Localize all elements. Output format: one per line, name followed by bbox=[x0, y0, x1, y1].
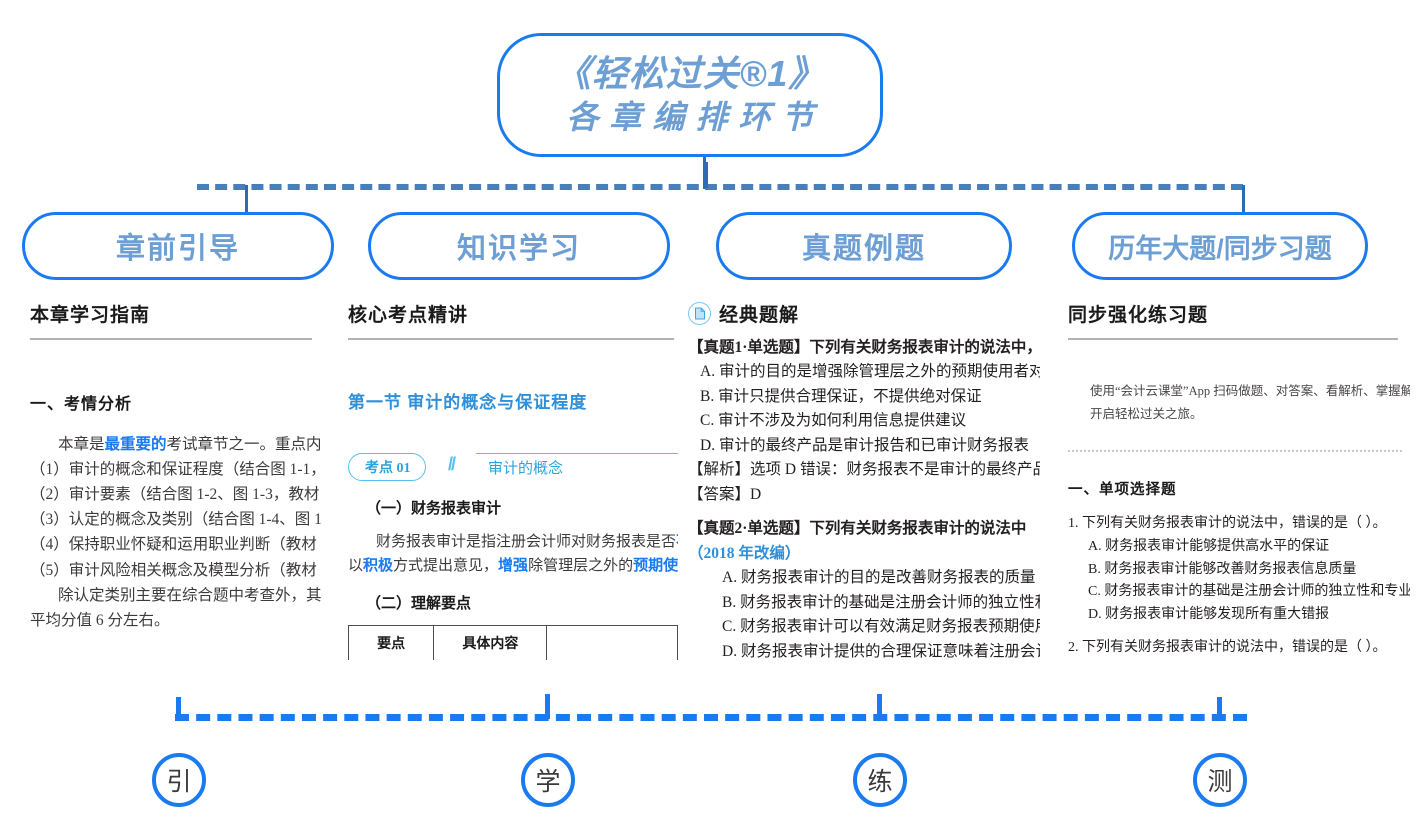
c1-line-6: （5）审计风险相关概念及模型分析（教材 1. bbox=[30, 558, 322, 583]
drop-connector-1 bbox=[245, 185, 248, 213]
c1-line-5: （4）保持职业怀疑和运用职业判断（教材 1. bbox=[30, 532, 322, 557]
panel-divider bbox=[1068, 338, 1398, 340]
c1-line-3: （2）审计要素（结合图 1-2、图 1-3，教材 bbox=[30, 482, 322, 507]
footer-circle-ce[interactable]: 测 bbox=[1193, 753, 1247, 807]
c4-q1-option-b: B. 财务报表审计能够改善财务报表信息质量 bbox=[1068, 559, 1410, 582]
c2-key-points-table: 要点 具体内容 bbox=[348, 625, 678, 660]
c2-subheading-2: （二）理解要点 bbox=[348, 592, 678, 613]
c1-line-2: （1）审计的概念和保证程度（结合图 1-1， bbox=[30, 457, 322, 482]
c4-dotted-divider bbox=[1068, 450, 1402, 452]
document-icon bbox=[688, 302, 711, 325]
c3-line-13: D. 财务报表审计提供的合理保证意味着注册会计师可 bbox=[688, 640, 1040, 660]
c1-line-1: 本章是最重要的考试章节之一。重点内容包 bbox=[30, 432, 322, 457]
footer-circle-lian[interactable]: 练 bbox=[853, 753, 907, 807]
bottom-riser-3 bbox=[877, 694, 882, 719]
c4-section-heading: 一、单项选择题 bbox=[1068, 478, 1410, 499]
c2-kaodian-badge: 考点 01 bbox=[348, 453, 426, 481]
footer-circle-label: 引 bbox=[166, 762, 191, 798]
c1-line-4: （3）认定的概念及类别（结合图 1-4、图 1- bbox=[30, 507, 322, 532]
c2-subheading-1: （一）财务报表审计 bbox=[348, 497, 678, 518]
c2-hl-3: 增强 bbox=[498, 558, 528, 574]
c4-note-line-1: 使用“会计云课堂”App 扫码做题、对答案、看解析、掌握解题思路 bbox=[1090, 380, 1410, 403]
c3-line-3: B. 审计只提供合理保证，不提供绝对保证 bbox=[688, 385, 1040, 409]
section-pill-label: 知识学习 bbox=[457, 225, 581, 267]
panel-title: 核心考点精讲 bbox=[348, 300, 678, 327]
section-pill-real-exam-examples[interactable]: 真题例题 bbox=[716, 212, 1012, 280]
content-panel-knowledge-study: 核心考点精讲 第一节 审计的概念与保证程度 考点 01 // 审计的概念 （一）… bbox=[348, 300, 678, 660]
drop-connector-2 bbox=[705, 162, 708, 188]
c3-line-1: 【真题1·单选题】下列有关财务报表审计的说法中，错误 bbox=[688, 336, 1040, 360]
footer-circle-yin[interactable]: 引 bbox=[152, 753, 206, 807]
section-pill-knowledge-study[interactable]: 知识学习 bbox=[368, 212, 670, 280]
table-header-cell: 具体内容 bbox=[434, 626, 547, 661]
c4-q1-option-d: D. 财务报表审计能够发现所有重大错报 bbox=[1068, 604, 1410, 627]
c3-line-7: 【答案】D bbox=[688, 483, 1040, 507]
panel-divider bbox=[30, 338, 312, 340]
c4-app-note: 使用“会计云课堂”App 扫码做题、对答案、看解析、掌握解题思路 开启轻松过关之… bbox=[1068, 380, 1410, 426]
panel-title: 本章学习指南 bbox=[30, 300, 322, 327]
bottom-dashed-connector bbox=[175, 714, 1247, 721]
c2-hl-1: 不 bbox=[676, 534, 678, 550]
c1-line-8: 平均分值 6 分左右。 bbox=[30, 608, 322, 633]
table-row: 要点 具体内容 bbox=[349, 626, 678, 661]
c4-note-line-2: 开启轻松过关之旅。 bbox=[1090, 403, 1410, 426]
c3-header-row: 经典题解 bbox=[688, 300, 1040, 327]
c4-q2-stem: 2. 下列有关财务报表审计的说法中，错误的是（ ）。 bbox=[1068, 637, 1410, 660]
c3-line-12: C. 财务报表审计可以有效满足财务报表预期使用者的 bbox=[688, 615, 1040, 639]
main-title-line-1: 《轻松过关®1》 bbox=[555, 53, 826, 94]
c1-section-heading: 一、考情分析 bbox=[30, 390, 322, 414]
footer-circle-label: 测 bbox=[1207, 762, 1232, 798]
content-panel-exercises: 同步强化练习题 使用“会计云课堂”App 扫码做题、对答案、看解析、掌握解题思路… bbox=[1068, 300, 1410, 660]
c3-line-10: A. 财务报表审计的目的是改善财务报表的质量 bbox=[688, 566, 1040, 590]
c3-line-9: （2018 年改编） bbox=[688, 542, 1040, 566]
panel-title: 经典题解 bbox=[719, 300, 799, 327]
c4-q1-stem: 1. 下列有关财务报表审计的说法中，错误的是（ ）。 bbox=[1068, 513, 1410, 536]
c2-section-title: 第一节 审计的概念与保证程度 bbox=[348, 388, 678, 413]
c1-paragraph: 本章是最重要的考试章节之一。重点内容包 （1）审计的概念和保证程度（结合图 1-… bbox=[30, 432, 322, 633]
c1-highlight: 最重要的 bbox=[105, 436, 167, 453]
section-pill-label: 历年大题/同步习题 bbox=[1108, 227, 1332, 266]
c2-kaodian-name: 审计的概念 bbox=[488, 457, 563, 478]
c1-line-7: 除认定类别主要在综合题中考查外，其他考 bbox=[30, 583, 322, 608]
c2-hl-2: 积极 bbox=[363, 558, 393, 574]
bottom-riser-1 bbox=[176, 697, 181, 719]
footer-circle-label: 学 bbox=[535, 762, 560, 798]
drop-connector-3 bbox=[1242, 185, 1245, 213]
c3-line-2: A. 审计的目的是增强除管理层之外的预期使用者对财 bbox=[688, 360, 1040, 384]
c2-kaodian-header: 考点 01 // 审计的概念 bbox=[348, 453, 678, 483]
c3-line-4: C. 审计不涉及为如何利用信息提供建议 bbox=[688, 409, 1040, 433]
main-title-line-2: 各章编排环节 bbox=[555, 97, 824, 137]
main-title-box: 《轻松过关®1》 各章编排环节 bbox=[497, 33, 883, 157]
panel-divider bbox=[348, 338, 674, 340]
bottom-riser-4 bbox=[1217, 697, 1222, 719]
c2-paragraph: 财务报表审计是指注册会计师对财务报表是否不 以积极方式提出意见，增强除管理层之外… bbox=[348, 530, 678, 578]
c3-line-6: 【解析】选项 D 错误：财务报表不是审计的最终产品。 bbox=[688, 458, 1040, 482]
c3-question-block: 【真题1·单选题】下列有关财务报表审计的说法中，错误 A. 审计的目的是增强除管… bbox=[688, 336, 1040, 660]
section-pill-label: 章前引导 bbox=[116, 225, 240, 267]
c3-line-5: D. 审计的最终产品是审计报告和已审计财务报表 bbox=[688, 434, 1040, 458]
section-pill-chapter-guide[interactable]: 章前引导 bbox=[22, 212, 334, 280]
c4-q1-option-c: C. 财务报表审计的基础是注册会计师的独立性和专业性 bbox=[1068, 581, 1410, 604]
c2-hl-4: 预期使用者 bbox=[633, 558, 678, 574]
footer-circle-xue[interactable]: 学 bbox=[521, 753, 575, 807]
c4-q2-option-a: A. 审计的目的是提高财务报表的可信度 bbox=[1068, 659, 1410, 660]
footer-circle-label: 练 bbox=[867, 762, 892, 798]
section-pill-label: 真题例题 bbox=[802, 225, 926, 267]
c3-line-8: 【真题2·单选题】下列有关财务报表审计的说法中 bbox=[688, 517, 1040, 541]
c3-line-11: B. 财务报表审计的基础是注册会计师的独立性和专业 bbox=[688, 591, 1040, 615]
top-dashed-connector bbox=[197, 184, 1243, 190]
c2-line-1: 财务报表审计是指注册会计师对财务报表是否不 bbox=[348, 530, 678, 554]
table-header-cell: 要点 bbox=[349, 626, 434, 661]
c1-line-1-rest: 考试章节之一。重点内容包 bbox=[167, 436, 322, 453]
c2-kaodian-slash-icon: // bbox=[448, 454, 454, 475]
table-header-cell bbox=[547, 626, 678, 661]
c2-kaodian-rule bbox=[476, 453, 678, 454]
c2-line-2: 以积极方式提出意见，增强除管理层之外的预期使用者 bbox=[348, 554, 678, 578]
content-panel-real-exam: 经典题解 【真题1·单选题】下列有关财务报表审计的说法中，错误 A. 审计的目的… bbox=[688, 300, 1040, 660]
content-panel-chapter-guide: 本章学习指南 一、考情分析 本章是最重要的考试章节之一。重点内容包 （1）审计的… bbox=[30, 300, 322, 660]
bottom-riser-2 bbox=[545, 694, 550, 719]
c4-question-list: 1. 下列有关财务报表审计的说法中，错误的是（ ）。 A. 财务报表审计能够提供… bbox=[1068, 513, 1410, 660]
section-pill-past-exercises[interactable]: 历年大题/同步习题 bbox=[1072, 212, 1368, 280]
c4-q1-option-a: A. 财务报表审计能够提供高水平的保证 bbox=[1068, 536, 1410, 559]
panel-title: 同步强化练习题 bbox=[1068, 300, 1410, 327]
